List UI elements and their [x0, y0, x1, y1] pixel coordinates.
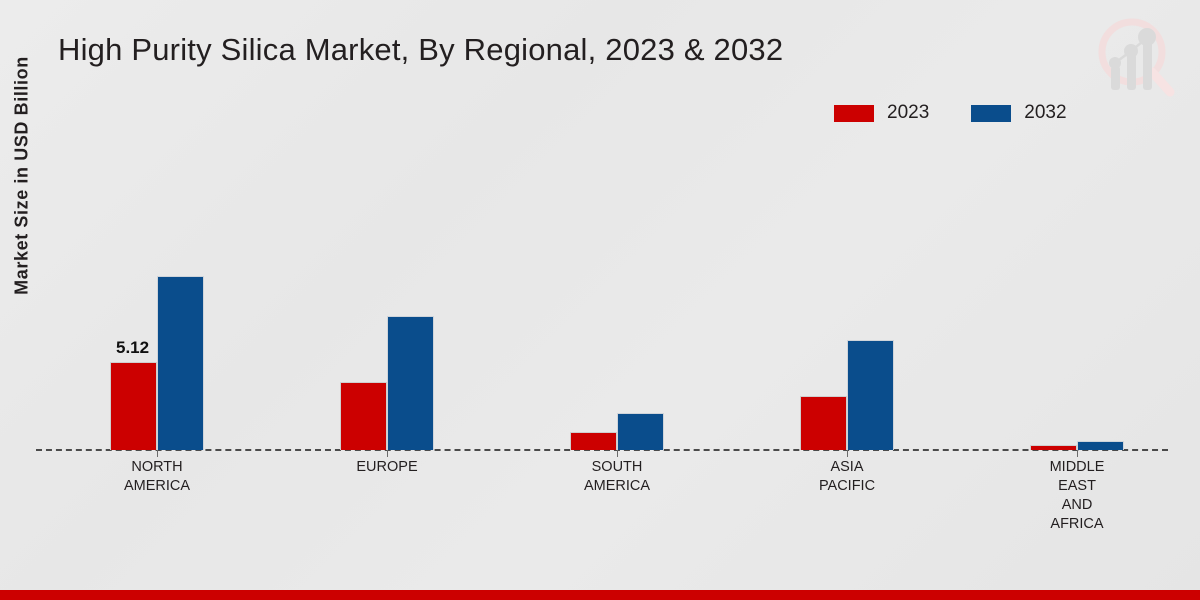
x-tick-asia-pacific [847, 450, 848, 457]
x-tick-europe [387, 450, 388, 457]
bottom-accent-bar [0, 590, 1200, 600]
bars-north-america [110, 150, 204, 450]
bars-asia-pacific [800, 150, 894, 450]
x-label-line: PACIFIC [772, 477, 922, 496]
x-label-line: EAST [1002, 477, 1152, 496]
bar-group-europe: EUROPE [340, 150, 434, 450]
x-label-asia-pacific: ASIA PACIFIC [772, 458, 922, 496]
bar-north-america-2023[interactable] [110, 362, 157, 450]
x-tick-north-america [157, 450, 158, 457]
bar-middle-east-and-africa-2032[interactable] [1077, 441, 1124, 450]
bar-group-asia-pacific: ASIA PACIFIC [800, 150, 894, 450]
bar-group-middle-east-and-africa: MIDDLE EAST AND AFRICA [1030, 150, 1124, 450]
x-label-line: EUROPE [312, 458, 462, 477]
bar-europe-2032[interactable] [387, 316, 434, 450]
bar-asia-pacific-2023[interactable] [800, 396, 847, 450]
bar-south-america-2023[interactable] [570, 432, 617, 450]
x-label-south-america: SOUTH AMERICA [542, 458, 692, 496]
x-label-line: MIDDLE [1002, 458, 1152, 477]
x-label-line: NORTH [82, 458, 232, 477]
x-label-line: AMERICA [542, 477, 692, 496]
bar-europe-2023[interactable] [340, 382, 387, 450]
x-label-line: SOUTH [542, 458, 692, 477]
bars-europe [340, 150, 434, 450]
chart-page: High Purity Silica Market, By Regional, … [0, 0, 1200, 600]
plot-area: 5.12 NORTH AMERICA EUROPE [0, 0, 1200, 600]
bar-south-america-2032[interactable] [617, 413, 664, 450]
bar-middle-east-and-africa-2023[interactable] [1030, 445, 1077, 450]
x-label-line: AFRICA [1002, 515, 1152, 534]
x-tick-middle-east-and-africa [1077, 450, 1078, 457]
x-tick-south-america [617, 450, 618, 457]
x-label-middle-east-and-africa: MIDDLE EAST AND AFRICA [1002, 458, 1152, 534]
bar-north-america-2032[interactable] [157, 276, 204, 450]
x-label-line: ASIA [772, 458, 922, 477]
bars-south-america [570, 150, 664, 450]
x-label-line: AMERICA [82, 477, 232, 496]
x-label-line: AND [1002, 496, 1152, 515]
x-label-north-america: NORTH AMERICA [82, 458, 232, 496]
bar-asia-pacific-2032[interactable] [847, 340, 894, 450]
x-label-europe: EUROPE [312, 458, 462, 477]
bars-middle-east-and-africa [1030, 150, 1124, 450]
bar-group-north-america: 5.12 NORTH AMERICA [110, 150, 204, 450]
bar-group-south-america: SOUTH AMERICA [570, 150, 664, 450]
